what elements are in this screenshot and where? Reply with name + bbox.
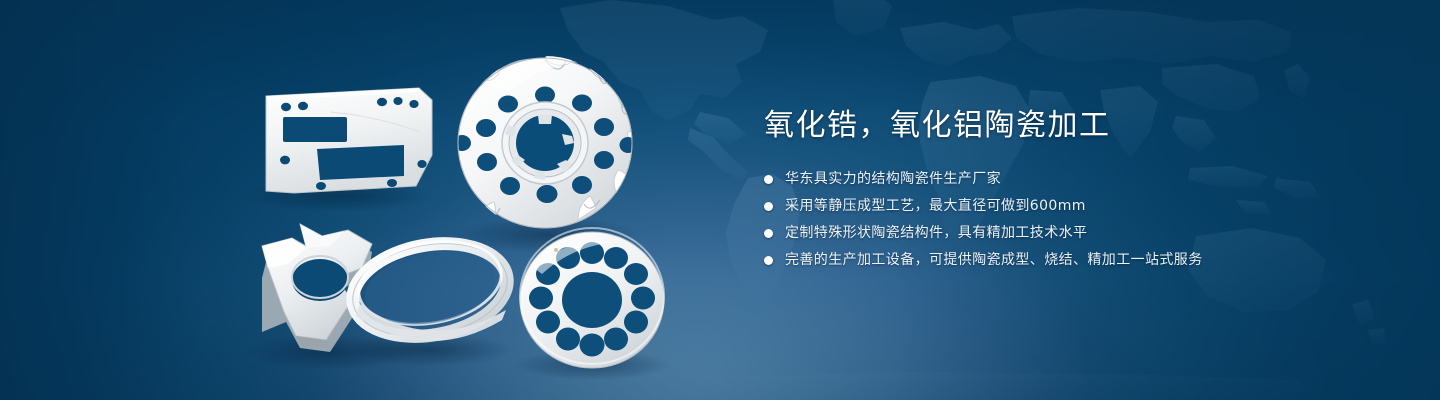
list-item-label: 华东具实力的结构陶瓷件生产厂家 — [785, 168, 1001, 190]
list-item-label: 定制特殊形状陶瓷结构件，具有精加工技术水平 — [785, 222, 1087, 244]
banner-text-block: 氧化锆，氧化铝陶瓷加工 华东具实力的结构陶瓷件生产厂家 采用等静压成型工艺，最大… — [764, 106, 1384, 276]
ceramic-vaned-impeller — [428, 46, 644, 228]
bullet-dot-icon — [764, 202, 773, 211]
bullet-dot-icon — [764, 175, 773, 184]
feature-list: 华东具实力的结构陶瓷件生产厂家 采用等静压成型工艺，最大直径可做到600mm 定… — [764, 168, 1384, 271]
list-item: 完善的生产加工设备，可提供陶瓷成型、烧结、精加工一站式服务 — [764, 249, 1384, 271]
list-item: 华东具实力的结构陶瓷件生产厂家 — [764, 168, 1384, 190]
page-title: 氧化锆，氧化铝陶瓷加工 — [764, 106, 1384, 146]
list-item-label: 完善的生产加工设备，可提供陶瓷成型、烧结、精加工一站式服务 — [785, 249, 1203, 271]
list-item: 采用等静压成型工艺，最大直径可做到600mm — [764, 195, 1384, 217]
list-item: 定制特殊形状陶瓷结构件，具有精加工技术水平 — [764, 222, 1384, 244]
bullet-dot-icon — [764, 256, 773, 265]
ceramic-machined-plate — [266, 88, 432, 193]
hero-banner: 氧化锆，氧化铝陶瓷加工 华东具实力的结构陶瓷件生产厂家 采用等静压成型工艺，最大… — [0, 0, 1440, 400]
list-item-label: 采用等静压成型工艺，最大直径可做到600mm — [785, 195, 1086, 217]
bullet-dot-icon — [764, 229, 773, 238]
ceramic-ring — [345, 231, 514, 348]
product-photo-group — [0, 0, 760, 400]
